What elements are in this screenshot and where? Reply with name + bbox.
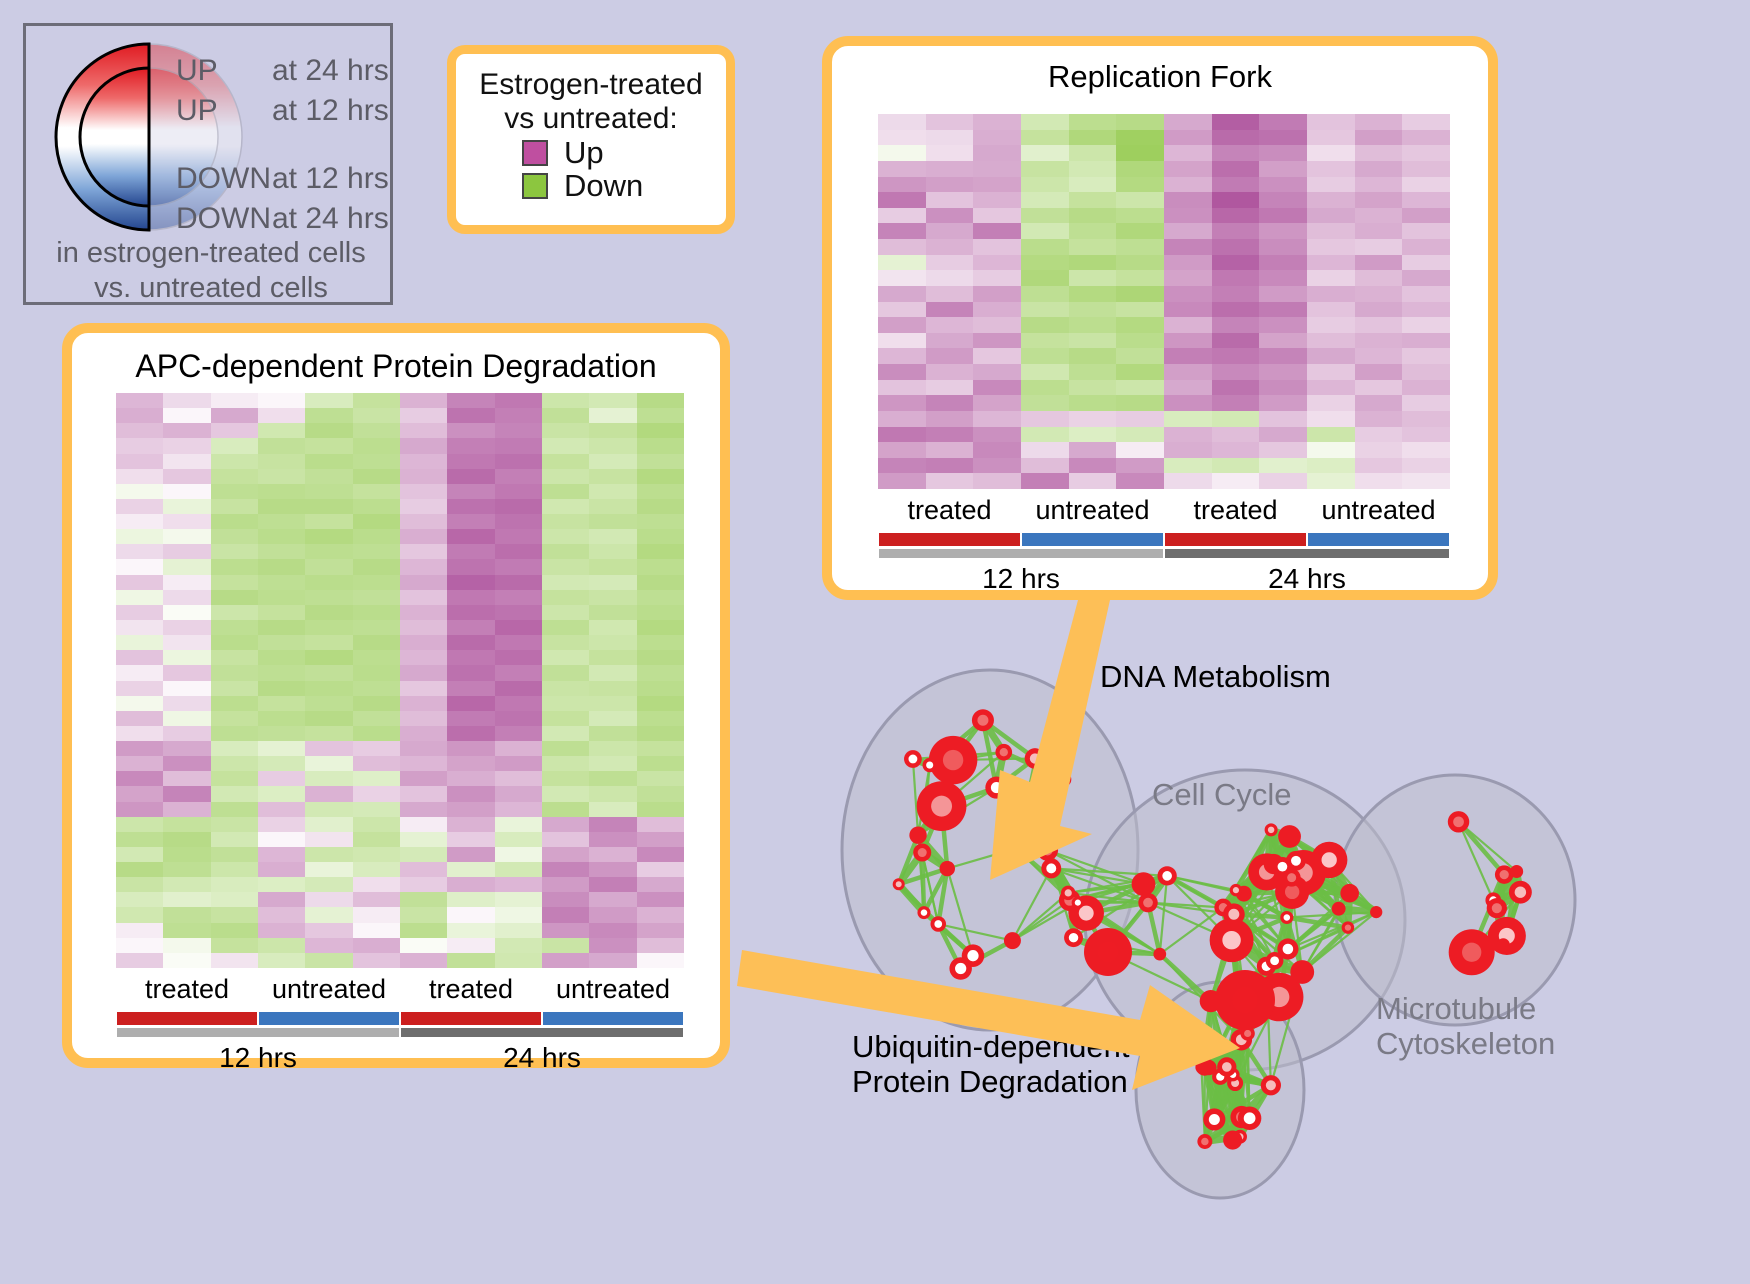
heatmap-cell (926, 177, 974, 193)
legend-swatch-down-icon (522, 173, 548, 199)
heatmap-cell (1212, 427, 1260, 443)
heatmap-cell (926, 286, 974, 302)
heatmap-cell (400, 953, 447, 968)
heatmap-cell (258, 529, 305, 544)
heatmap-cell (1116, 223, 1164, 239)
heatmap-cell (637, 605, 684, 620)
heatmap-cell (447, 892, 494, 907)
heatmap-cell (1355, 145, 1403, 161)
heatmap-cell (400, 605, 447, 620)
network-node-core (1283, 944, 1294, 955)
heatmap-cell (1116, 411, 1164, 427)
heatmap-cell (1402, 145, 1450, 161)
network-node-core (1046, 863, 1056, 873)
network-node (909, 826, 926, 843)
heatmap-cell (495, 620, 542, 635)
heatmap-cell (926, 364, 974, 380)
heatmap-cell (589, 786, 636, 801)
heatmap-cell (1069, 364, 1117, 380)
heatmap-cell (1116, 458, 1164, 474)
heatmap-cell (447, 907, 494, 922)
heatmap-cell (1259, 348, 1307, 364)
heatmap-cell (353, 802, 400, 817)
network-node-core (1233, 887, 1239, 893)
heatmap-cell (258, 499, 305, 514)
heatmap-cell (542, 590, 589, 605)
heatmap-cell (1021, 114, 1069, 130)
heatmap-cell (542, 469, 589, 484)
pathway-network-diagram: DNA Metabolism Cell Cycle Microtubule Cy… (790, 620, 1750, 1279)
heatmap-cell (926, 161, 974, 177)
network-node-core (1162, 871, 1172, 881)
heatmap-cell (258, 650, 305, 665)
heatmap-cell (926, 473, 974, 489)
heatmap-cell (447, 665, 494, 680)
network-node (1223, 1130, 1242, 1149)
heatmap-cell (542, 559, 589, 574)
heatmap-cell (495, 499, 542, 514)
key-direction: DOWN (176, 164, 272, 194)
heatmap-cell (1212, 302, 1260, 318)
heatmap-cell (542, 711, 589, 726)
heatmap-cell (163, 862, 210, 877)
heatmap-cell (1116, 239, 1164, 255)
panel-title-apc: APC-dependent Protein Degradation (72, 349, 720, 384)
heatmap-cell (637, 544, 684, 559)
heatmap-cell (1355, 442, 1403, 458)
heatmap-cell (495, 847, 542, 862)
heatmap-cell (1021, 458, 1069, 474)
heatmap-cell (589, 847, 636, 862)
heatmap-cell (353, 756, 400, 771)
heatmap-cell (589, 923, 636, 938)
heatmap-cell (637, 847, 684, 862)
network-node-core (1291, 856, 1301, 866)
heatmap-cell (116, 892, 163, 907)
heatmap-cell (1355, 364, 1403, 380)
heatmap-cell (211, 741, 258, 756)
heatmap-cell (163, 454, 210, 469)
treatment-bar-segment (1021, 533, 1164, 546)
heatmap-cell (1116, 161, 1164, 177)
heatmap-cell (353, 650, 400, 665)
heatmap-cell (1069, 177, 1117, 193)
heatmap-cell (973, 161, 1021, 177)
heatmap-cell (211, 559, 258, 574)
heatmap-cell (353, 786, 400, 801)
network-node-core (1453, 816, 1464, 827)
heatmap-cell (637, 756, 684, 771)
heatmap-cell (353, 665, 400, 680)
heatmap-cell (116, 514, 163, 529)
heatmap-cell (1069, 192, 1117, 208)
heatmap-cell (589, 771, 636, 786)
heatmap-cell (1402, 333, 1450, 349)
treatment-bar-segment (258, 1012, 400, 1025)
heatmap-cell (495, 877, 542, 892)
heatmap-cell (589, 892, 636, 907)
heatmap-cell (258, 408, 305, 423)
heatmap-cell (1116, 286, 1164, 302)
heatmap-cell (211, 423, 258, 438)
heatmap-cell (305, 862, 352, 877)
heatmap-cell (1355, 270, 1403, 286)
heatmap-cell (1069, 473, 1117, 489)
heatmap-cell (163, 529, 210, 544)
heatmap-cell (258, 756, 305, 771)
heatmap-cell (1116, 177, 1164, 193)
heatmap-cell (926, 302, 974, 318)
colorwheel-key-box: UP at 24 hrs UP at 12 hrs DOWN at 12 hrs… (23, 23, 393, 305)
heatmap-cell (637, 817, 684, 832)
heatmap-cell (1355, 130, 1403, 146)
heatmap-cell (211, 907, 258, 922)
time-label: 24 hrs (1164, 563, 1450, 595)
heatmap-cell (542, 454, 589, 469)
heatmap-cell (1164, 286, 1212, 302)
heatmap-cell (305, 847, 352, 862)
heatmap-cell (1402, 395, 1450, 411)
heatmap-cell (878, 255, 926, 271)
heatmap-cell (495, 696, 542, 711)
heatmap-cell (116, 832, 163, 847)
heatmap-cell (1212, 348, 1260, 364)
heatmap-cell (495, 832, 542, 847)
heatmap-cell (447, 847, 494, 862)
heatmap-cell (1212, 364, 1260, 380)
heatmap-cell (353, 590, 400, 605)
heatmap-cell (495, 786, 542, 801)
heatmap-cell (447, 786, 494, 801)
heatmap-cell (305, 529, 352, 544)
heatmap-cell (353, 514, 400, 529)
network-node (1340, 884, 1359, 903)
heatmap-cell (163, 499, 210, 514)
heatmap-cell (305, 696, 352, 711)
heatmap-cell (589, 620, 636, 635)
heatmap-cell (973, 177, 1021, 193)
heatmap-cell (353, 923, 400, 938)
heatmap-cell (1021, 270, 1069, 286)
heatmap-cell (163, 877, 210, 892)
heatmap-cell (116, 559, 163, 574)
heatmap-cell (542, 907, 589, 922)
heatmap-cell (211, 665, 258, 680)
heatmap-cell (1355, 473, 1403, 489)
heatmap-cell (116, 469, 163, 484)
heatmap-cell (637, 681, 684, 696)
treatment-bar-segment (542, 1012, 684, 1025)
heatmap-cell (163, 923, 210, 938)
heatmap-cell (1355, 177, 1403, 193)
heatmap-cell (1212, 395, 1260, 411)
treatment-bar-segment (1307, 533, 1450, 546)
network-node-core (1268, 827, 1275, 834)
heatmap-cell (258, 938, 305, 953)
heatmap-cell (305, 438, 352, 453)
heatmap-cell (353, 423, 400, 438)
heatmap-cell (1212, 333, 1260, 349)
heatmap-cell (1069, 427, 1117, 443)
heatmap-cell (1307, 145, 1355, 161)
heatmap-cell (1402, 411, 1450, 427)
heatmap-cell (305, 575, 352, 590)
heatmap-cell (353, 847, 400, 862)
heatmap-cell (495, 923, 542, 938)
heatmap-cell (637, 741, 684, 756)
network-node-core (921, 909, 928, 916)
heatmap-cell (1307, 286, 1355, 302)
heatmap-cell (589, 484, 636, 499)
heatmap-cell (1307, 239, 1355, 255)
heatmap-cell (258, 559, 305, 574)
heatmap-cell (542, 499, 589, 514)
heatmap-cell (542, 650, 589, 665)
network-node (1510, 865, 1523, 878)
heatmap-cell (1259, 302, 1307, 318)
heatmap-cell (589, 817, 636, 832)
key-row: UP at 24 hrs (176, 56, 391, 96)
heatmap-cell (1355, 333, 1403, 349)
heatmap-cell (258, 817, 305, 832)
heatmap-cell (1212, 411, 1260, 427)
heatmap-cell (495, 802, 542, 817)
heatmap-cell (163, 802, 210, 817)
key-timepoint: at 12 hrs (272, 164, 389, 194)
network-node-core (1228, 909, 1239, 920)
heatmap-cell (353, 529, 400, 544)
heatmap-cell (589, 635, 636, 650)
heatmap-cell (878, 114, 926, 130)
heatmap-cell (116, 938, 163, 953)
heatmap-cell (637, 620, 684, 635)
heatmap-cell (542, 635, 589, 650)
heatmap-cell (589, 802, 636, 817)
heatmap-cell (353, 953, 400, 968)
heatmap-cell (211, 862, 258, 877)
network-node-core (1075, 900, 1081, 906)
heatmap-cell (258, 665, 305, 680)
heatmap-cell (878, 161, 926, 177)
heatmap-cell (926, 255, 974, 271)
legend-label-down: Down (564, 170, 643, 201)
heatmap-cell (163, 559, 210, 574)
heatmap-cell (1116, 473, 1164, 489)
heatmap-cell (1116, 255, 1164, 271)
heatmap-cell (163, 696, 210, 711)
heatmap-cell (1116, 333, 1164, 349)
heatmap-cell (926, 395, 974, 411)
treatment-bar-segment (878, 533, 1021, 546)
heatmap-cell (1307, 333, 1355, 349)
heatmap-cell (1259, 255, 1307, 271)
heatmap-cell (589, 423, 636, 438)
heatmap-cell (258, 438, 305, 453)
heatmap-cell (495, 681, 542, 696)
heatmap-cell (211, 454, 258, 469)
heatmap-cell (637, 423, 684, 438)
heatmap-cell (589, 696, 636, 711)
heatmap-cell (495, 771, 542, 786)
heatmap-cell (1402, 208, 1450, 224)
network-node-core (943, 750, 963, 770)
heatmap-cell (116, 454, 163, 469)
key-direction: UP (176, 56, 272, 86)
heatmap-cell (305, 514, 352, 529)
heatmap-cell (258, 393, 305, 408)
heatmap-cell (116, 605, 163, 620)
heatmap-cell (1116, 145, 1164, 161)
heatmap-cell (116, 499, 163, 514)
heatmap-cell (447, 529, 494, 544)
heatmap-cell (447, 499, 494, 514)
heatmap-cell (1164, 114, 1212, 130)
cluster-label-microtubule-cytoskeleton: Microtubule Cytoskeleton (1376, 992, 1555, 1061)
legend-item-down: Down (522, 170, 726, 201)
heatmap-cell (353, 484, 400, 499)
heatmap-cell (589, 862, 636, 877)
network-node-core (1284, 914, 1291, 921)
heatmap-cell (116, 923, 163, 938)
heatmap-cell (542, 438, 589, 453)
heatmap-cell (542, 817, 589, 832)
heatmap-cell (1212, 442, 1260, 458)
heatmap-cell (637, 393, 684, 408)
heatmap-cell (878, 192, 926, 208)
heatmap-cell (116, 756, 163, 771)
heatmap-cell (1402, 239, 1450, 255)
heatmap-cell (973, 364, 1021, 380)
heatmap-cell (305, 741, 352, 756)
heatmap-cell (1355, 208, 1403, 224)
heatmap-cell (973, 145, 1021, 161)
heatmap-cell (353, 726, 400, 741)
network-node-core (1244, 1112, 1256, 1124)
heatmap-cell (258, 620, 305, 635)
heatmap-cell (163, 726, 210, 741)
heatmap-cell (637, 832, 684, 847)
heatmap-cell (1307, 114, 1355, 130)
heatmap-cell (163, 514, 210, 529)
heatmap-cell (878, 458, 926, 474)
key-direction: UP (176, 96, 272, 126)
heatmap-cell (258, 696, 305, 711)
heatmap-cell (542, 892, 589, 907)
heatmap-cell (878, 364, 926, 380)
heatmap-cell (1212, 458, 1260, 474)
heatmap-cell (973, 458, 1021, 474)
heatmap-cell (305, 423, 352, 438)
heatmap-cell (1021, 177, 1069, 193)
heatmap-cell (447, 544, 494, 559)
heatmap-cell (447, 726, 494, 741)
heatmap-cell (1164, 255, 1212, 271)
heatmap-cell (305, 771, 352, 786)
heatmap-cell (542, 847, 589, 862)
heatmap-cell (495, 544, 542, 559)
heatmap-cell (305, 665, 352, 680)
heatmap-cell (447, 650, 494, 665)
heatmap-cell (447, 620, 494, 635)
network-node-core (967, 950, 978, 961)
heatmap-cell (1116, 130, 1164, 146)
heatmap-cell (542, 953, 589, 968)
heatmap-cell (211, 847, 258, 862)
heatmap-cell (637, 590, 684, 605)
heatmap-cell (589, 454, 636, 469)
heatmap-cell (637, 802, 684, 817)
heatmap-cell (1069, 302, 1117, 318)
heatmap-cell (258, 575, 305, 590)
heatmap-cell (1116, 208, 1164, 224)
heatmap-cell (1164, 239, 1212, 255)
heatmap-cell (1307, 130, 1355, 146)
heatmap-cell (163, 681, 210, 696)
heatmap-cell (1069, 317, 1117, 333)
heatmap-cell (116, 726, 163, 741)
time-label: 24 hrs (400, 1042, 684, 1074)
heatmap-cell (1116, 364, 1164, 380)
heatmap-cell (973, 333, 1021, 349)
heatmap-cell (637, 786, 684, 801)
heatmap-cell (211, 786, 258, 801)
key-timepoint: at 12 hrs (272, 96, 389, 126)
time-bar-replication (878, 549, 1450, 558)
network-node (1004, 932, 1021, 949)
heatmap-cell (495, 605, 542, 620)
heatmap-cell (116, 771, 163, 786)
heatmap-cell (973, 130, 1021, 146)
heatmap-cell (1402, 286, 1450, 302)
network-node-core (1143, 898, 1153, 908)
heatmap-cell (305, 726, 352, 741)
heatmap-cell (305, 408, 352, 423)
heatmap-cell (1164, 192, 1212, 208)
heatmap-cell (400, 590, 447, 605)
heatmap-cell (211, 575, 258, 590)
heatmap-cell (878, 130, 926, 146)
network-node-core (1266, 1080, 1276, 1090)
heatmap-cell (1116, 348, 1164, 364)
heatmap-cell (1259, 130, 1307, 146)
heatmap-cell (1021, 380, 1069, 396)
heatmap-cell (1069, 239, 1117, 255)
heatmap-cell (211, 650, 258, 665)
heatmap-cell (1259, 333, 1307, 349)
heatmap-cell (353, 469, 400, 484)
heatmap-cell (447, 408, 494, 423)
heatmap-cell (1069, 208, 1117, 224)
heatmap-cell (878, 270, 926, 286)
heatmap-cell (1021, 223, 1069, 239)
heatmap-cell (1307, 348, 1355, 364)
network-node-core (1287, 873, 1296, 882)
heatmap-cell (495, 756, 542, 771)
heatmap-cell (1259, 192, 1307, 208)
legend-item-up: Up (522, 137, 726, 168)
treatment-bar-apc (116, 1012, 684, 1025)
heatmap-cell (211, 817, 258, 832)
heatmap-cell (447, 559, 494, 574)
heatmap-cell (878, 411, 926, 427)
heatmap-cell (258, 514, 305, 529)
heatmap-cell (400, 938, 447, 953)
heatmap-cell (353, 544, 400, 559)
network-node-core (1000, 748, 1008, 756)
network-node (1056, 772, 1071, 787)
heatmap-cell (1259, 442, 1307, 458)
heatmap-cell (495, 559, 542, 574)
